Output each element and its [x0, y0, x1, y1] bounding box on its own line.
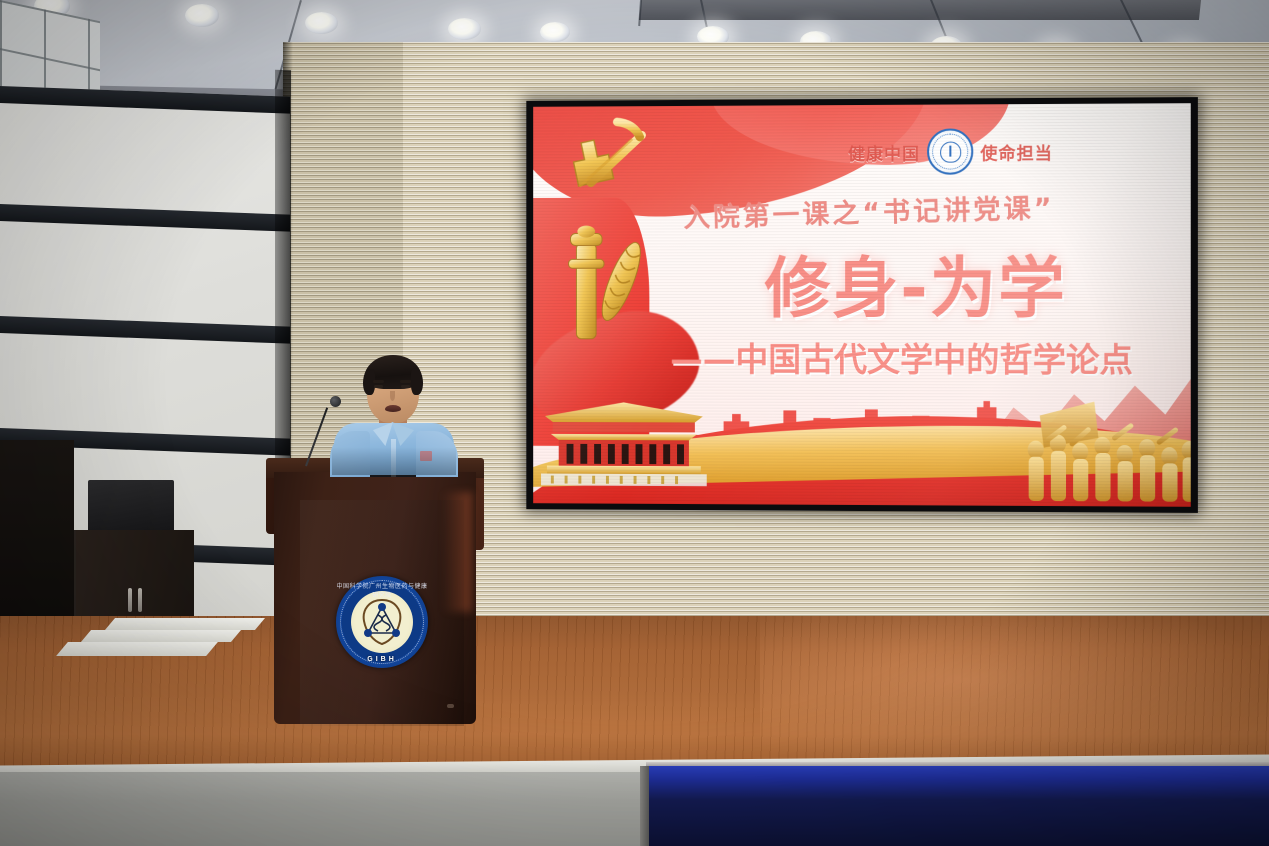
wall-dark-band [0, 204, 290, 232]
led-presentation-screen[interactable]: 健康中国 使命担当 入院第一课之“书记讲党课” 修身-为学 ——中国古代文学中的… [526, 97, 1198, 513]
ceiling-downlight [185, 4, 219, 27]
slide-header-left-text: 健康中国 [848, 139, 920, 164]
gibh-circular-logo-icon [927, 128, 973, 174]
slide-header-right-text: 使命担当 [980, 139, 1053, 164]
stage-step [56, 642, 218, 656]
slide-bottom-band [533, 374, 1191, 506]
cpc-hammer-sickle-icon [557, 116, 652, 202]
slide-header-logo-row: 健康中国 使命担当 [731, 127, 1173, 175]
speaker-nose [390, 391, 395, 401]
speaker-brow-right [400, 380, 411, 383]
slide-main-title: 修身-为学 [681, 234, 1152, 331]
speaker-eye-left [374, 385, 383, 388]
lecture-hall-photo: 健康中国 使命担当 入院第一课之“书记讲党课” 修身-为学 ——中国古代文学中的… [0, 0, 1269, 846]
lectern-light-edge [442, 492, 472, 612]
emblem-chinese-text: 中国科学院广州生物医药与健康研究院 [336, 581, 428, 599]
stage-steps[interactable] [110, 618, 270, 678]
cabinet-handle-right[interactable] [138, 588, 142, 612]
foreground-blue-seating [646, 766, 1269, 846]
monument-figures-graphic [1018, 393, 1191, 506]
ceiling-downlight [305, 12, 338, 34]
emblem-inner-disc [351, 591, 413, 653]
speaker-person [332, 355, 456, 473]
speaker-hair-right [411, 369, 423, 395]
lectern-fitting [447, 704, 454, 708]
ceiling-duct-strip [639, 0, 1201, 20]
tiananmen-gate-graphic [537, 392, 710, 488]
emblem-molecule-icon [351, 591, 413, 653]
ceiling-downlight [540, 22, 570, 42]
stage-step [81, 630, 241, 642]
gibh-institute-emblem: 中国科学院广州生物医药与健康研究院 GIBH [336, 576, 428, 668]
lectern[interactable]: 中国科学院广州生物医药与健康研究院 GIBH [266, 458, 484, 724]
foreground-left-edge [640, 766, 649, 846]
wall-dark-band [0, 316, 290, 344]
floor-light-reflection [760, 616, 1269, 776]
speaker-mouth [385, 405, 401, 412]
speaker-eye-right [401, 385, 410, 388]
emblem-acronym-label: GIBH [336, 656, 428, 663]
speaker-torso-shading [332, 447, 456, 475]
speaker-brow-left [373, 380, 384, 383]
ceiling-downlight [448, 18, 481, 40]
lectern-body: 中国科学院广州生物医药与健康研究院 GIBH [274, 472, 476, 724]
slide-content: 健康中国 使命担当 入院第一课之“书记讲党课” 修身-为学 ——中国古代文学中的… [533, 103, 1191, 507]
cabinet-handle-left[interactable] [128, 588, 132, 612]
stage-step [105, 618, 265, 630]
